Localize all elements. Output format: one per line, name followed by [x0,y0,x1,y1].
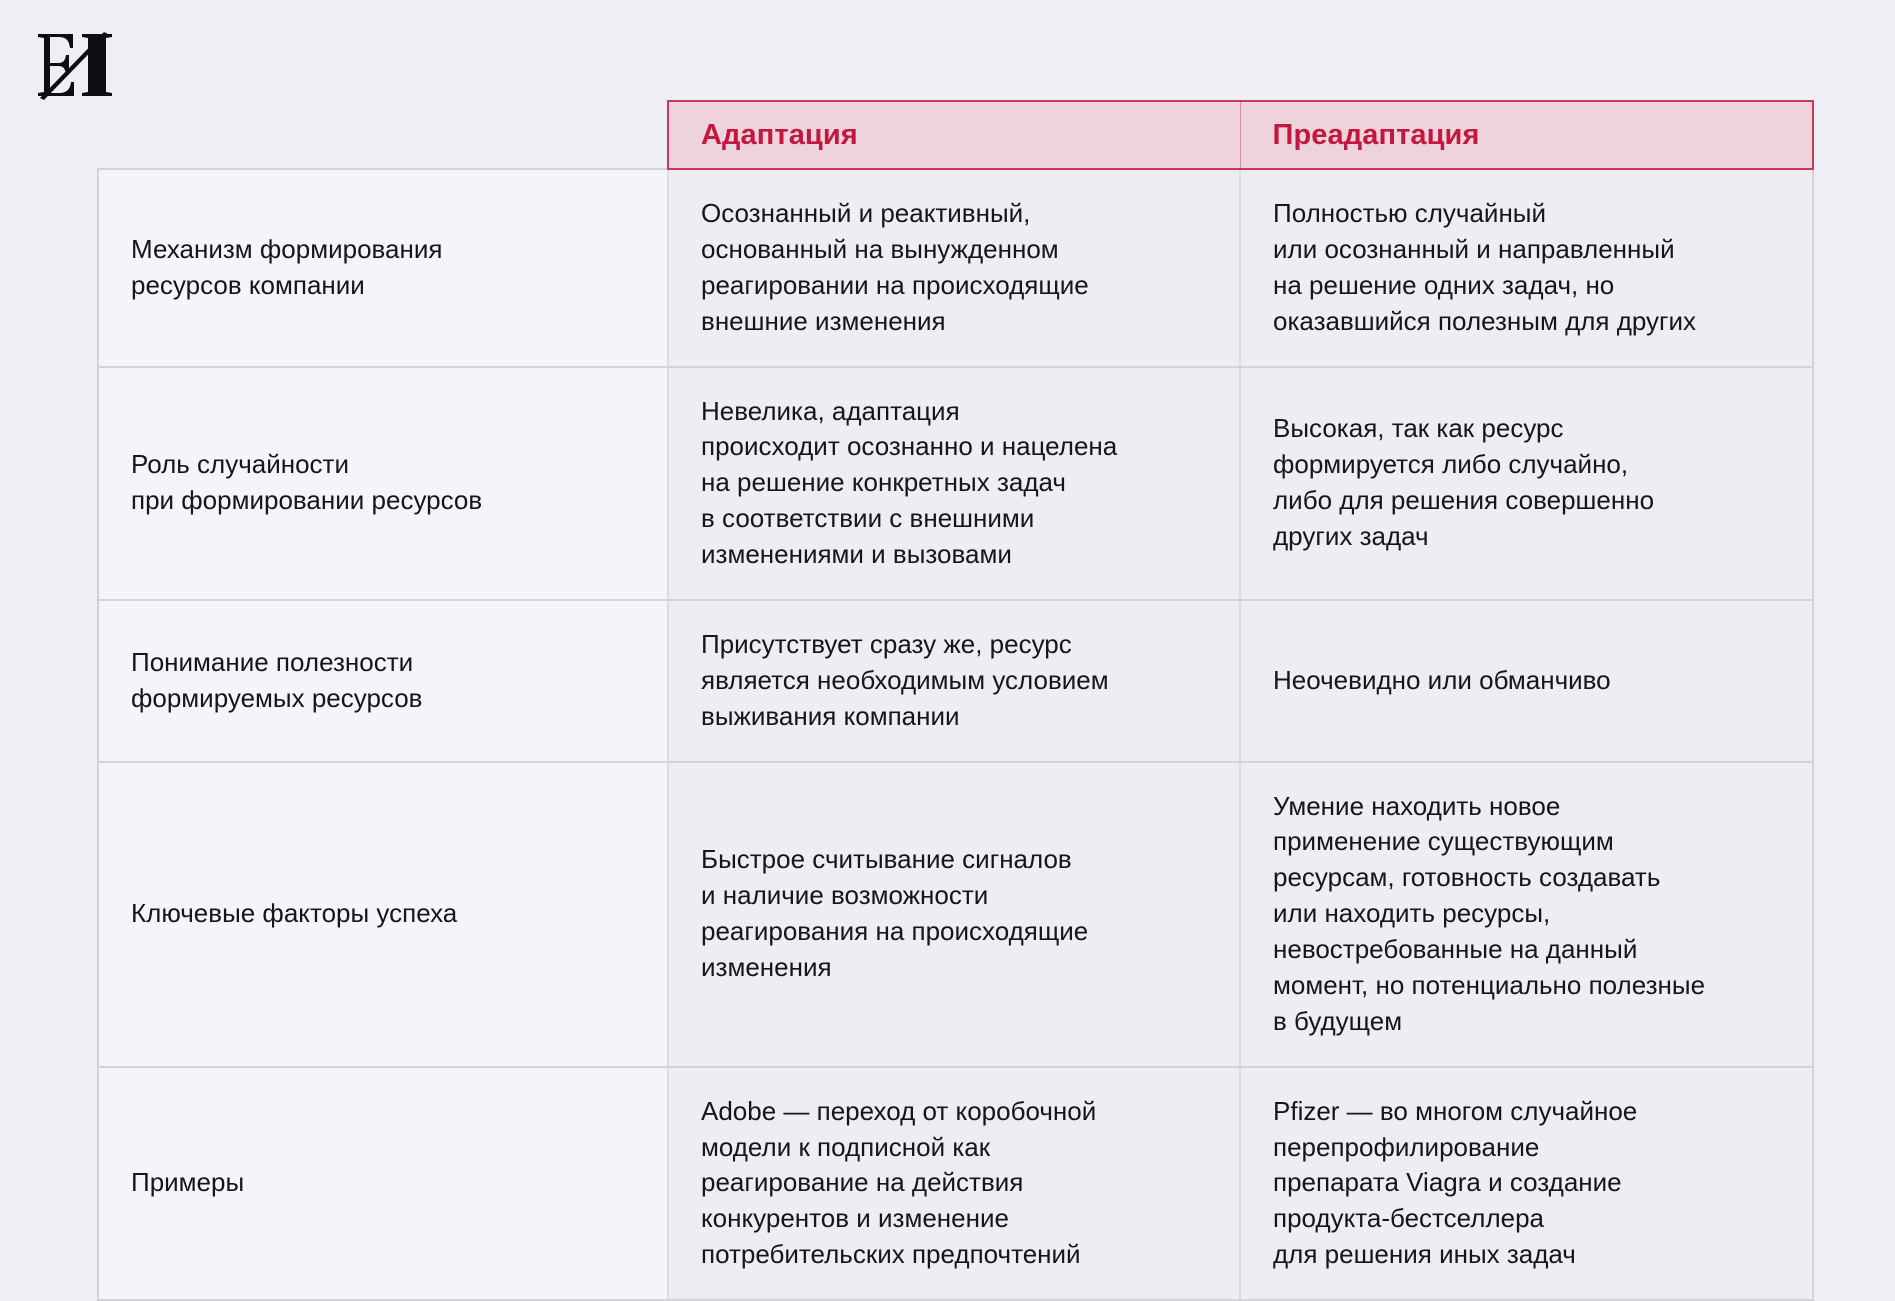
table-row: Роль случайности при формировании ресурс… [98,367,1813,600]
row-adaptation-cell: Невелика, адаптация происходит осознанно… [668,367,1240,600]
header-adaptation: Адаптация [668,101,1240,169]
row-preadaptation-cell: Неочевидно или обманчиво [1240,600,1813,762]
row-label: Примеры [98,1067,668,1300]
row-preadaptation-cell: Pfizer — во многом случайное перепрофили… [1240,1067,1813,1300]
table-row: Ключевые факторы успеха Быстрое считыван… [98,762,1813,1067]
row-label: Ключевые факторы успеха [98,762,668,1067]
row-adaptation-cell: Быстрое считывание сигналов и наличие во… [668,762,1240,1067]
row-preadaptation-cell: Умение находить новое применение существ… [1240,762,1813,1067]
header-label-spacer [98,101,668,169]
row-label: Понимание полезности формируемых ресурсо… [98,600,668,762]
row-label: Механизм формирования ресурсов компании [98,169,668,367]
table-body: Механизм формирования ресурсов компании … [98,169,1813,1300]
row-adaptation-cell: Присутствует сразу же, ресурс является н… [668,600,1240,762]
row-preadaptation-cell: Полностью случайный или осознанный и нап… [1240,169,1813,367]
row-adaptation-cell: Осознанный и реактивный, основанный на в… [668,169,1240,367]
adaptation-comparison-table: Адаптация Преадаптация Механизм формиров… [97,100,1814,1301]
comparison-table-container: Адаптация Преадаптация Механизм формиров… [97,100,1812,1301]
header-row: Адаптация Преадаптация [98,101,1813,169]
table-header: Адаптация Преадаптация [98,101,1813,169]
ei-monogram-logo [28,20,148,110]
header-preadaptation: Преадаптация [1240,101,1813,169]
table-row: Понимание полезности формируемых ресурсо… [98,600,1813,762]
row-adaptation-cell: Adobe — переход от коробочной модели к п… [668,1067,1240,1300]
row-label: Роль случайности при формировании ресурс… [98,367,668,600]
row-preadaptation-cell: Высокая, так как ресурс формируется либо… [1240,367,1813,600]
table-row: Механизм формирования ресурсов компании … [98,169,1813,367]
table-row: Примеры Adobe — переход от коробочной мо… [98,1067,1813,1300]
